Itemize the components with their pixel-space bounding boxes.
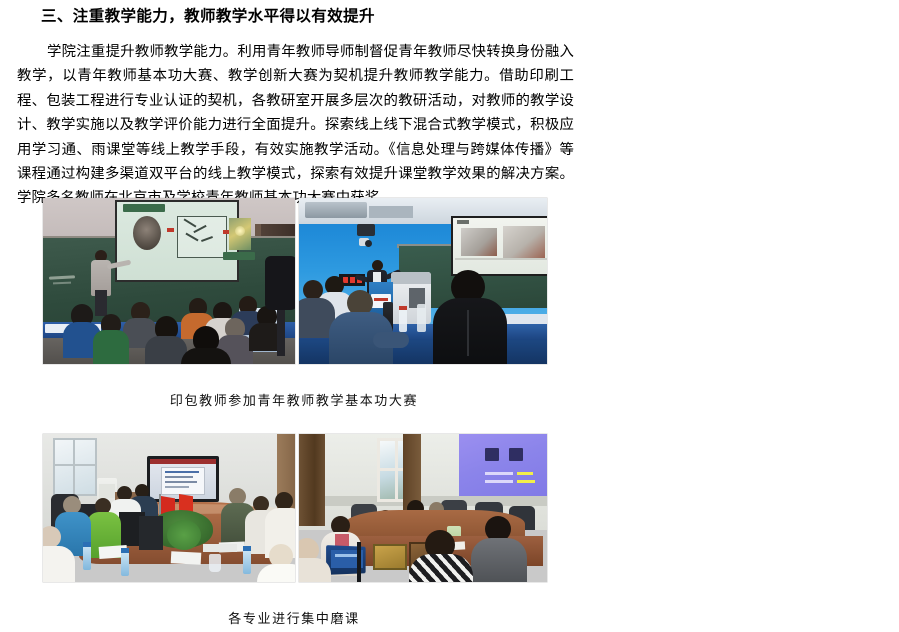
- photo-projection-line: [485, 480, 513, 483]
- photo-camera-stand: [277, 310, 285, 356]
- photo-attendee-body: [409, 554, 473, 582]
- photo-bottle: [417, 304, 426, 332]
- photo-laptop-text: [335, 554, 357, 557]
- photo-stand: [357, 542, 361, 582]
- photo-equipment-top: [391, 272, 431, 284]
- photo-audience-body: [433, 298, 507, 364]
- photo-meeting-room-review: [43, 434, 295, 582]
- photo-bottle-cap: [399, 306, 407, 310]
- photo-ac-vent: [99, 484, 115, 498]
- document-page: 三、注重教学能力，教师教学水平得以有效提升 学院注重提升教师教学能力。利用青年教…: [0, 0, 899, 632]
- photo-projection-char: [485, 448, 499, 461]
- photo-projection-area: [459, 434, 547, 496]
- photo-row-1: [43, 198, 547, 364]
- photo-audience-arm: [373, 332, 409, 348]
- photo-slide-divider: [455, 258, 547, 260]
- photo-attendee-body: [43, 546, 75, 582]
- photo-slide-portrait: [133, 216, 161, 250]
- figure-caption-2: 各专业进行集中磨课: [43, 608, 545, 627]
- photo-slide-glow: [235, 226, 245, 236]
- photo-bottle-cap: [121, 548, 129, 553]
- photo-display-text-line: [165, 486, 189, 488]
- photo-attendee-body: [471, 538, 527, 582]
- photo-projection-value: [517, 472, 533, 475]
- photo-display-text-line: [165, 481, 197, 483]
- photo-slide-title-bar: [123, 204, 165, 212]
- photo-led-digit: [343, 277, 348, 283]
- photo-water-bottle: [243, 548, 251, 574]
- photo-window-mullion: [73, 438, 75, 496]
- body-paragraph: 学院注重提升教师教学能力。利用青年教师导师制督促青年教师尽快转换身份融入教学，以…: [17, 40, 574, 211]
- photo-monitor: [139, 516, 163, 550]
- photo-speaker: [357, 224, 375, 236]
- photo-window-bar: [53, 464, 97, 466]
- photo-water-bottle: [83, 544, 91, 570]
- photo-water-bottle: [121, 550, 129, 576]
- photo-audience-head: [303, 280, 323, 300]
- photo-keyboard: [203, 544, 237, 552]
- photo-display-text-line: [165, 471, 199, 473]
- photo-bottle-cap: [83, 542, 91, 547]
- photo-sensor: [365, 240, 372, 247]
- photo-bottle-cap: [243, 546, 251, 551]
- photo-slide-image: [503, 226, 545, 258]
- photo-window: [53, 438, 97, 496]
- photo-curtain: [299, 434, 325, 526]
- photo-slide-tag: [223, 252, 255, 260]
- photo-classroom-lecture: [43, 198, 295, 364]
- photo-audience-body: [93, 330, 129, 364]
- photo-attendee-body: [257, 564, 295, 582]
- photo-projection-line: [485, 472, 513, 475]
- photo-projection-value: [517, 480, 535, 483]
- photo-papers: [171, 551, 202, 565]
- photo-projection-char: [509, 448, 523, 461]
- photo-bottle: [399, 308, 407, 332]
- section-heading: 三、注重教学能力，教师教学水平得以有效提升: [41, 4, 375, 26]
- photo-meeting-room-printing-lecture: [299, 434, 547, 582]
- photo-teacher-legs: [95, 290, 107, 316]
- photo-slide-marker: [167, 228, 174, 232]
- figure-caption-1: 印包教师参加青年教师教学基本功大赛: [43, 390, 545, 409]
- photo-slide-caption: [457, 220, 469, 224]
- photo-slide-diagram: [177, 216, 227, 258]
- photo-ceiling-duct: [305, 202, 367, 218]
- photo-framed-sample: [373, 544, 407, 570]
- photo-jacket-zipper: [467, 310, 469, 356]
- photo-slide-image: [461, 228, 497, 256]
- photo-blue-room-presentation: [299, 198, 547, 364]
- photo-camera-rig: [265, 256, 295, 310]
- photo-display-text-line: [165, 476, 193, 478]
- photo-audience-body: [181, 348, 231, 364]
- photo-display-titlebar: [150, 459, 216, 464]
- photo-plant-inner: [167, 520, 201, 550]
- photo-cup: [209, 554, 221, 572]
- photo-attendee-body: [299, 558, 331, 582]
- photo-ceiling-duct: [369, 206, 413, 218]
- photo-box-text: [374, 298, 388, 301]
- photo-row-2: [43, 434, 547, 582]
